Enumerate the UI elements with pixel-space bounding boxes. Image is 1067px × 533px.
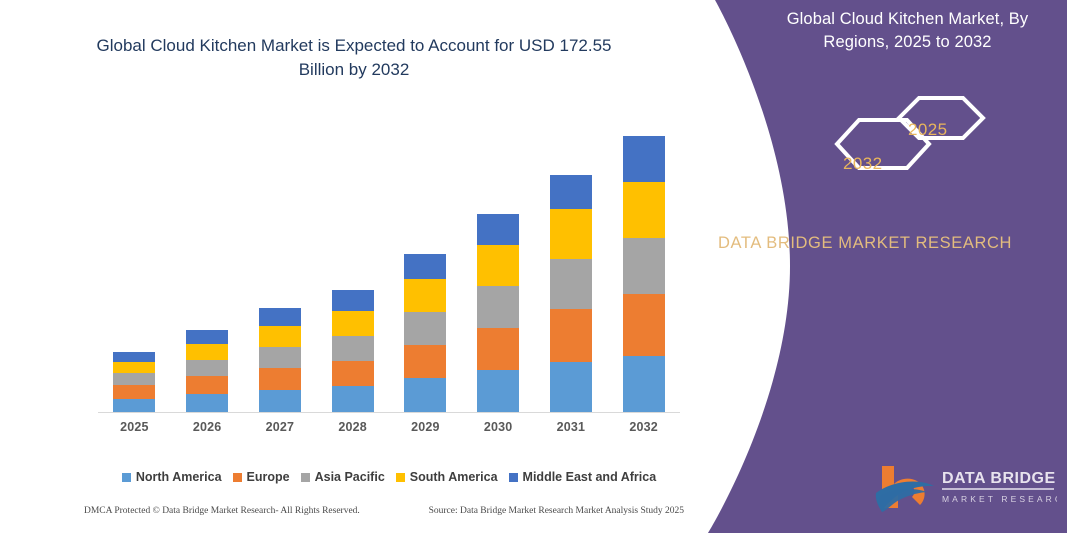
legend-label: North America xyxy=(136,470,222,484)
x-axis-line xyxy=(98,412,680,413)
x-axis-label-2031: 2031 xyxy=(550,420,592,444)
x-axis-label-2030: 2030 xyxy=(477,420,519,444)
x-axis-label-2025: 2025 xyxy=(113,420,155,444)
bar-segment xyxy=(332,361,374,386)
bar-column-2026 xyxy=(186,330,228,412)
legend-item[interactable]: Middle East and Africa xyxy=(509,470,657,484)
legend-swatch-icon xyxy=(122,473,131,482)
bar-column-2025 xyxy=(113,352,155,412)
legend-swatch-icon xyxy=(509,473,518,482)
bar-segment xyxy=(332,336,374,361)
hexagon-year-2025: 2025 xyxy=(908,120,947,140)
legend-swatch-icon xyxy=(396,473,405,482)
bar-segment xyxy=(623,136,665,182)
legend-label: Middle East and Africa xyxy=(523,470,657,484)
hexagon-badges: 2025 2032 xyxy=(815,92,995,204)
logo-primary-text: DATA BRIDGE xyxy=(942,470,1056,487)
x-axis-labels: 20252026202720282029203020312032 xyxy=(98,420,680,444)
chart-title: Global Cloud Kitchen Market is Expected … xyxy=(78,34,630,82)
bar-segment xyxy=(259,347,301,368)
footer-copyright: DMCA Protected © Data Bridge Market Rese… xyxy=(84,506,360,516)
footer-source: Source: Data Bridge Market Research Mark… xyxy=(429,506,684,516)
legend-swatch-icon xyxy=(233,473,242,482)
bar-segment xyxy=(186,344,228,360)
bar-segment xyxy=(113,352,155,362)
bar-segment xyxy=(550,259,592,309)
bar-segment xyxy=(186,376,228,394)
data-bridge-logo: DATA BRIDGE MARKET RESEARCH xyxy=(872,462,1057,514)
x-axis-label-2029: 2029 xyxy=(404,420,446,444)
bar-segment xyxy=(186,360,228,376)
bar-segment xyxy=(550,175,592,209)
bar-segment xyxy=(186,394,228,412)
bar-segment xyxy=(623,182,665,238)
bar-segment xyxy=(623,294,665,356)
bar-segment xyxy=(404,279,446,312)
bar-segment xyxy=(113,373,155,385)
x-axis-label-2032: 2032 xyxy=(623,420,665,444)
bar-segment xyxy=(550,362,592,412)
bar-column-2031 xyxy=(550,175,592,412)
bar-column-2029 xyxy=(404,254,446,412)
logo-secondary-text: MARKET RESEARCH xyxy=(942,494,1057,504)
stacked-bar-plot xyxy=(98,120,680,412)
bar-segment xyxy=(623,238,665,294)
chart-legend: North AmericaEuropeAsia PacificSouth Ame… xyxy=(98,470,680,484)
bar-segment xyxy=(332,311,374,336)
bar-segment xyxy=(477,286,519,328)
bar-segment xyxy=(113,362,155,373)
bar-segment xyxy=(404,378,446,412)
bar-segment xyxy=(113,399,155,412)
bar-segment xyxy=(259,368,301,390)
legend-item[interactable]: Europe xyxy=(233,470,290,484)
bar-segment xyxy=(477,328,519,370)
bar-column-2032 xyxy=(623,136,665,412)
legend-label: Europe xyxy=(247,470,290,484)
bar-column-2027 xyxy=(259,308,301,412)
bar-segment xyxy=(477,214,519,245)
legend-item[interactable]: South America xyxy=(396,470,498,484)
bar-segment xyxy=(259,390,301,412)
bar-segment xyxy=(404,345,446,378)
x-axis-label-2027: 2027 xyxy=(259,420,301,444)
legend-item[interactable]: Asia Pacific xyxy=(301,470,385,484)
bar-segment xyxy=(259,326,301,347)
brand-name: DATA BRIDGE MARKET RESEARCH xyxy=(715,232,1015,256)
bar-segment xyxy=(404,254,446,279)
footer: DMCA Protected © Data Bridge Market Rese… xyxy=(84,506,684,516)
bar-segment xyxy=(113,385,155,399)
bar-column-2030 xyxy=(477,214,519,412)
legend-label: South America xyxy=(410,470,498,484)
bar-segment xyxy=(550,209,592,259)
bar-column-2028 xyxy=(332,290,374,412)
panel-title: Global Cloud Kitchen Market, By Regions,… xyxy=(765,8,1050,55)
x-axis-label-2026: 2026 xyxy=(186,420,228,444)
bar-segment xyxy=(332,386,374,412)
x-axis-label-2028: 2028 xyxy=(332,420,374,444)
bar-segment xyxy=(186,330,228,344)
chart-area: Global Cloud Kitchen Market is Expected … xyxy=(0,0,700,533)
bar-segment xyxy=(623,356,665,412)
legend-label: Asia Pacific xyxy=(315,470,385,484)
bar-segment xyxy=(404,312,446,345)
legend-item[interactable]: North America xyxy=(122,470,222,484)
panel-content: Global Cloud Kitchen Market, By Regions,… xyxy=(660,0,1067,533)
bar-segment xyxy=(259,308,301,326)
bar-segment xyxy=(477,370,519,412)
bar-segment xyxy=(332,290,374,311)
bar-segment xyxy=(477,245,519,286)
logo-b-mark xyxy=(876,466,934,512)
bar-segment xyxy=(550,309,592,362)
hexagon-year-2032: 2032 xyxy=(843,154,882,174)
infographic-canvas: Global Cloud Kitchen Market, By Regions,… xyxy=(0,0,1067,533)
legend-swatch-icon xyxy=(301,473,310,482)
